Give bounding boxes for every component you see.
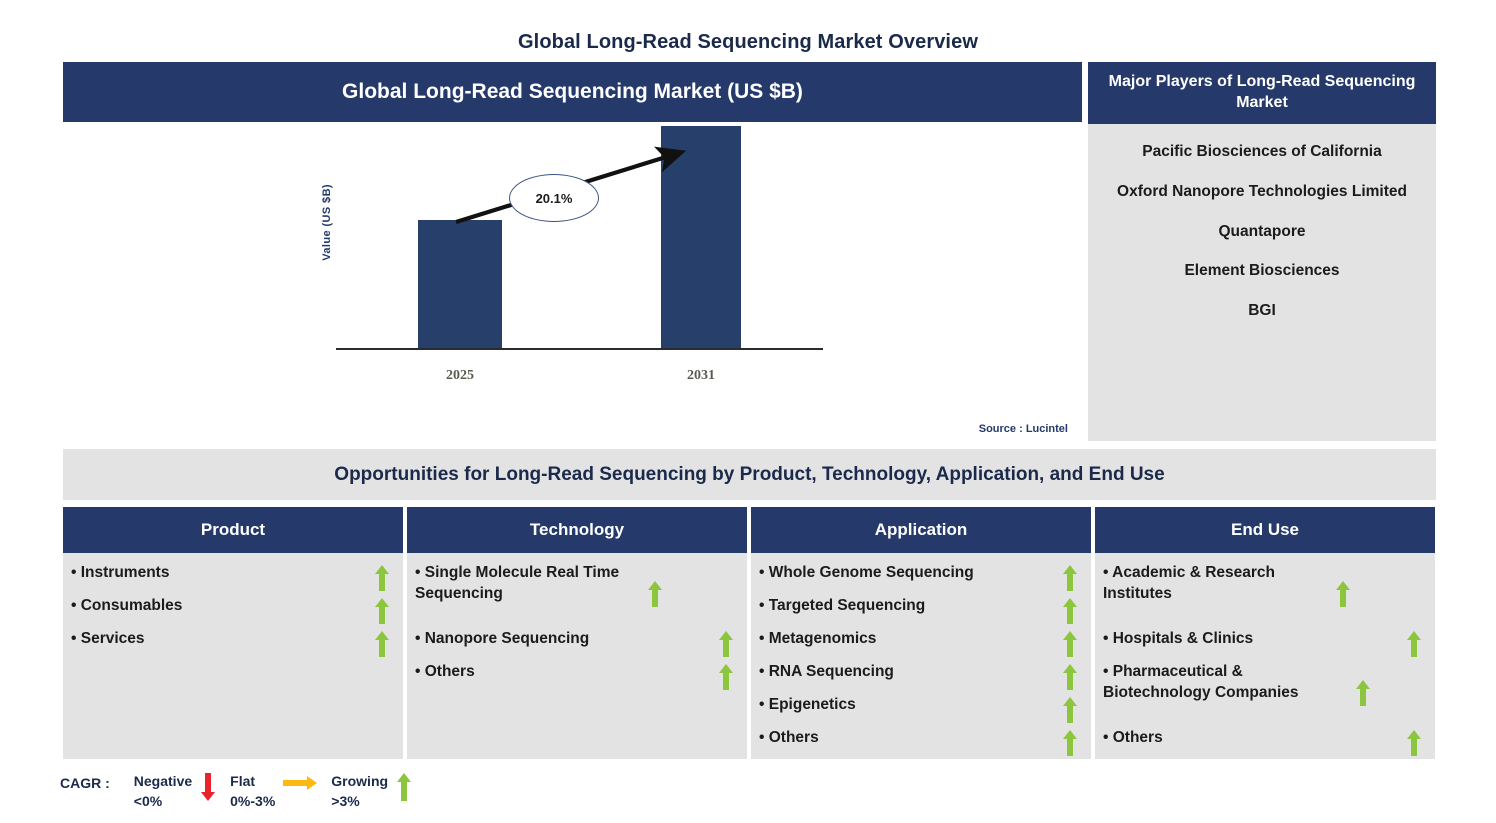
legend-entry-flat: Flat 0%-3%	[230, 771, 325, 812]
list-item: BGI	[1098, 301, 1426, 321]
arrow-up-icon	[1055, 728, 1085, 756]
item-label: • Others	[1103, 728, 1399, 749]
item-label: • Nanopore Sequencing	[415, 629, 711, 650]
list-item: • Nanopore Sequencing	[415, 629, 741, 662]
item-label: • Consumables	[71, 596, 367, 617]
column-product: Product • Instruments • Consumables • Se…	[63, 507, 403, 759]
item-label: • Pharmaceutical & Biotechnology Compani…	[1103, 662, 1348, 704]
list-item: Pacific Biosciences of California	[1098, 142, 1426, 162]
arrow-up-icon	[396, 773, 412, 801]
page-title: Global Long-Read Sequencing Market Overv…	[0, 31, 1496, 54]
item-label: • Hospitals & Clinics	[1103, 629, 1399, 650]
chart-plot-area: 20.1% 2025 2031	[336, 122, 826, 412]
column-technology: Technology • Single Molecule Real Time S…	[407, 507, 747, 759]
chart-card-header: Global Long-Read Sequencing Market (US $…	[63, 62, 1082, 122]
market-chart-card: Global Long-Read Sequencing Market (US $…	[63, 62, 1082, 441]
column-header-end-use: End Use	[1095, 507, 1435, 553]
arrow-up-icon	[367, 596, 397, 624]
list-item: • RNA Sequencing	[759, 662, 1085, 695]
opportunities-banner: Opportunities for Long-Read Sequencing b…	[63, 449, 1436, 500]
players-card-header: Major Players of Long-Read Sequencing Ma…	[1088, 62, 1436, 124]
legend-entry-growing: Growing >3%	[331, 771, 420, 812]
arrow-down-icon	[200, 773, 216, 801]
list-item: • Instruments	[71, 563, 397, 596]
item-label: • Instruments	[71, 563, 367, 584]
legend-range-flat: 0%-3%	[230, 791, 275, 811]
column-end-use: End Use • Academic & Research Institutes…	[1095, 507, 1435, 759]
legend-text-growing: Growing >3%	[331, 771, 388, 812]
column-items-application: • Whole Genome Sequencing • Targeted Seq…	[751, 553, 1091, 769]
chart-y-axis-label: Value (US $B)	[321, 184, 333, 261]
list-item: • Targeted Sequencing	[759, 596, 1085, 629]
list-item: • Epigenetics	[759, 695, 1085, 728]
item-label: • Academic & Research Institutes	[1103, 563, 1328, 605]
legend-name-flat: Flat	[230, 771, 275, 791]
x-tick-2031: 2031	[661, 368, 741, 384]
list-item: • Whole Genome Sequencing	[759, 563, 1085, 596]
arrow-up-icon	[1055, 563, 1085, 591]
item-label: • Others	[759, 728, 1055, 749]
list-item: • Others	[415, 662, 741, 695]
cagr-value: 20.1%	[536, 191, 573, 206]
legend-text-negative: Negative <0%	[134, 771, 192, 812]
list-item: Element Biosciences	[1098, 261, 1426, 281]
trend-arrow-icon	[336, 122, 826, 412]
legend-name-negative: Negative	[134, 771, 192, 791]
arrow-up-icon	[1328, 563, 1358, 607]
arrow-up-icon	[367, 563, 397, 591]
item-label: • Services	[71, 629, 367, 650]
column-header-product: Product	[63, 507, 403, 553]
column-application: Application • Whole Genome Sequencing • …	[751, 507, 1091, 759]
arrow-up-icon	[1055, 695, 1085, 723]
major-players-card: Major Players of Long-Read Sequencing Ma…	[1088, 62, 1436, 441]
arrow-up-icon	[711, 629, 741, 657]
players-list: Pacific Biosciences of California Oxford…	[1088, 124, 1436, 441]
item-label: • Whole Genome Sequencing	[759, 563, 1055, 584]
arrow-up-icon	[1055, 596, 1085, 624]
item-label: • Others	[415, 662, 711, 683]
arrow-up-icon	[1399, 728, 1429, 756]
arrow-up-icon	[640, 563, 670, 607]
list-item: Oxford Nanopore Technologies Limited	[1098, 182, 1426, 202]
arrow-up-icon	[711, 662, 741, 690]
column-header-technology: Technology	[407, 507, 747, 553]
column-items-end-use: • Academic & Research Institutes • Hospi…	[1095, 553, 1435, 769]
opportunity-columns: Product • Instruments • Consumables • Se…	[63, 507, 1436, 759]
x-tick-2025: 2025	[418, 368, 502, 384]
chart-body: Value (US $B) 20.1% 2025 2031	[63, 122, 1082, 441]
arrow-up-icon	[1055, 629, 1085, 657]
column-items-technology: • Single Molecule Real Time Sequencing •…	[407, 553, 747, 703]
chart-source: Source : Lucintel	[979, 423, 1068, 435]
list-item: • Others	[1103, 728, 1429, 761]
column-header-application: Application	[751, 507, 1091, 553]
arrow-up-icon	[1055, 662, 1085, 690]
infographic-page: Global Long-Read Sequencing Market Overv…	[0, 0, 1496, 823]
item-label: • Epigenetics	[759, 695, 1055, 716]
list-item: • Hospitals & Clinics	[1103, 629, 1429, 662]
list-item: • Consumables	[71, 596, 397, 629]
arrow-up-icon	[1348, 662, 1378, 706]
arrow-up-icon	[1399, 629, 1429, 657]
legend-entry-negative: Negative <0%	[134, 771, 224, 812]
item-label: • RNA Sequencing	[759, 662, 1055, 683]
legend-name-growing: Growing	[331, 771, 388, 791]
item-label: • Single Molecule Real Time Sequencing	[415, 563, 640, 605]
list-item: • Single Molecule Real Time Sequencing	[415, 563, 741, 629]
legend-range-negative: <0%	[134, 791, 192, 811]
legend-text-flat: Flat 0%-3%	[230, 771, 275, 812]
cagr-bubble: 20.1%	[509, 174, 599, 222]
item-label: • Targeted Sequencing	[759, 596, 1055, 617]
list-item: • Pharmaceutical & Biotechnology Compani…	[1103, 662, 1429, 728]
arrow-right-icon	[283, 775, 317, 791]
column-items-product: • Instruments • Consumables • Services	[63, 553, 403, 670]
item-label: • Metagenomics	[759, 629, 1055, 650]
list-item: • Services	[71, 629, 397, 662]
list-item: • Academic & Research Institutes	[1103, 563, 1429, 629]
list-item: Quantapore	[1098, 222, 1426, 242]
cagr-legend: CAGR : Negative <0% Flat 0%-3% Growing >…	[60, 771, 426, 812]
list-item: • Others	[759, 728, 1085, 761]
legend-title: CAGR :	[60, 771, 110, 791]
list-item: • Metagenomics	[759, 629, 1085, 662]
legend-range-growing: >3%	[331, 791, 388, 811]
arrow-up-icon	[367, 629, 397, 657]
